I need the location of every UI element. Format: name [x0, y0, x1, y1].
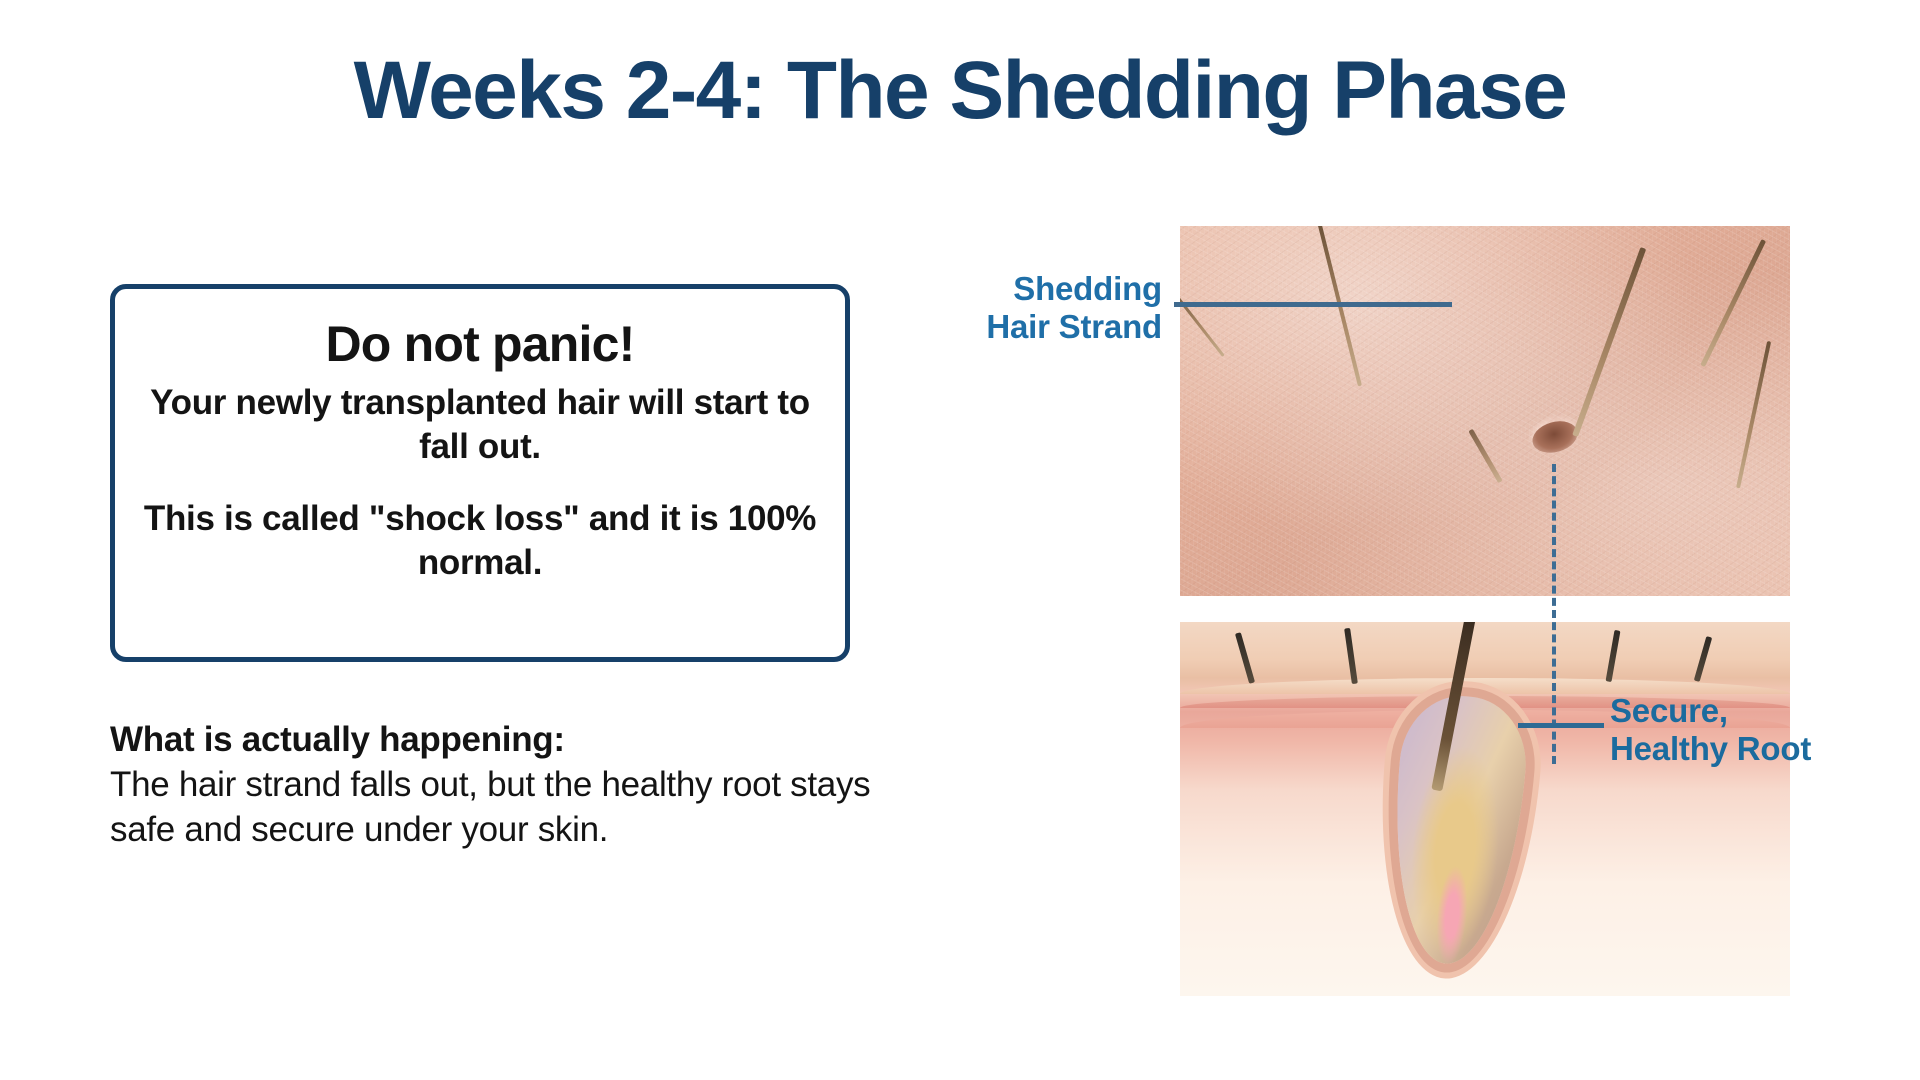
surface-hair-icon — [1694, 636, 1712, 682]
dashed-connector-line — [1552, 464, 1556, 764]
skin-surface-photo — [1180, 226, 1790, 596]
secure-healthy-root-label: Secure, Healthy Root — [1610, 692, 1840, 769]
surface-hair-icon — [1606, 630, 1621, 682]
explanation-body: The hair strand falls out, but the healt… — [110, 763, 910, 853]
page-title: Weeks 2-4: The Shedding Phase — [0, 48, 1920, 134]
surface-hair-icon — [1344, 628, 1358, 684]
callout-line-2: This is called "shock loss" and it is 10… — [143, 497, 817, 585]
left-content-column: Do not panic! Your newly transplanted ha… — [110, 284, 850, 852]
do-not-panic-callout: Do not panic! Your newly transplanted ha… — [110, 284, 850, 662]
root-label-leader-line — [1518, 723, 1604, 728]
surface-hair-icon — [1235, 632, 1255, 684]
explanation-lead: What is actually happening: — [110, 718, 910, 763]
slide-root: Weeks 2-4: The Shedding Phase Do not pan… — [0, 0, 1920, 1080]
skin-texture — [1180, 226, 1790, 596]
hair-root-bulb-icon — [1383, 691, 1532, 969]
figure-container: Shedding Hair Strand Secure, Healthy Roo… — [1180, 226, 1790, 996]
explanation-block: What is actually happening: The hair str… — [110, 718, 910, 852]
shedding-label-leader-line — [1174, 302, 1452, 307]
shedding-hair-strand-label: Shedding Hair Strand — [912, 270, 1162, 347]
follicle-cross-section — [1180, 622, 1790, 996]
callout-line-1: Your newly transplanted hair will start … — [143, 381, 817, 469]
callout-heading: Do not panic! — [143, 315, 817, 373]
